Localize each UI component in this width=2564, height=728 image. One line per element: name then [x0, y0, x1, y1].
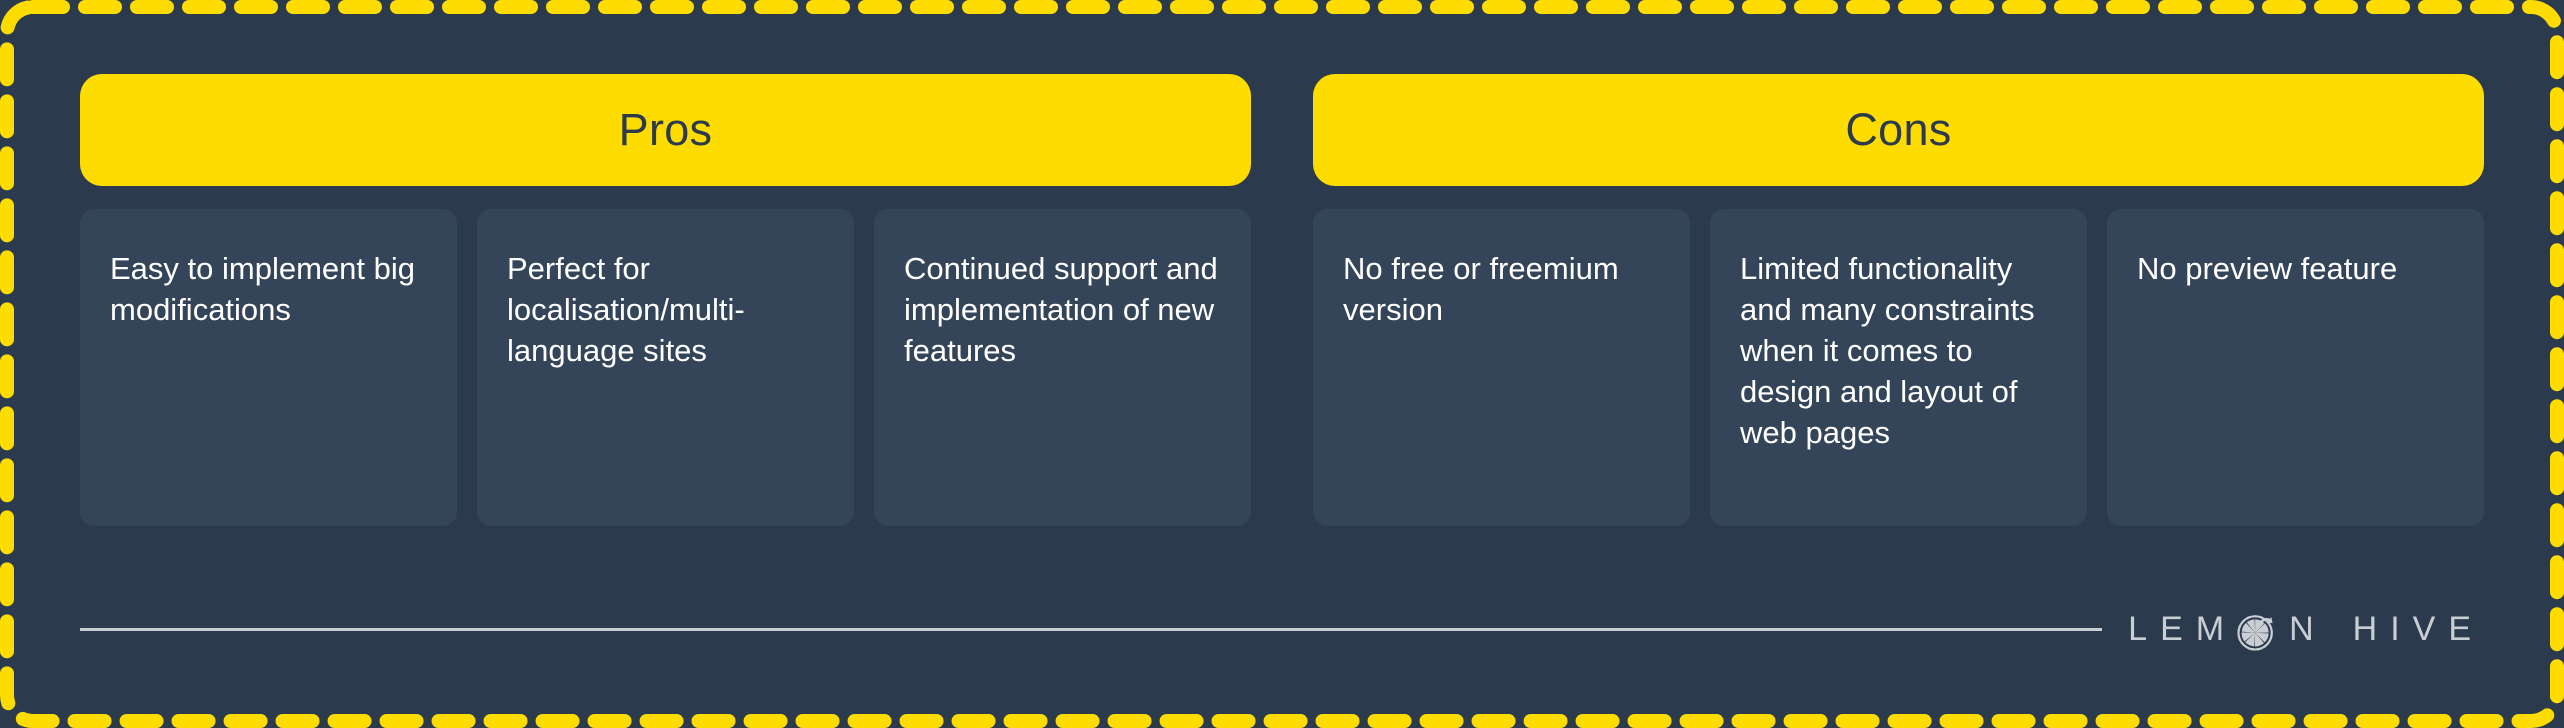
- footer-divider: [80, 628, 2102, 631]
- brand-text-n: N: [2289, 610, 2327, 649]
- brand-text-hive: HIVE: [2353, 610, 2484, 649]
- brand-logo: LEM: [2128, 608, 2484, 650]
- brand-text-lem: LEM: [2128, 610, 2237, 649]
- cons-card-list: No free or freemium version Limited func…: [1313, 209, 2484, 526]
- pros-card-text: Continued support and implementation of …: [904, 249, 1221, 372]
- pros-card-text: Perfect for localisation/multi-language …: [507, 249, 824, 372]
- slide-canvas: Pros Easy to implement big modifications…: [0, 0, 2564, 728]
- cons-card[interactable]: No free or freemium version: [1313, 209, 1690, 526]
- lemon-slice-icon: [2235, 611, 2277, 653]
- column-header-cons-label: Cons: [1845, 104, 1951, 156]
- column-cons: Cons No free or freemium version Limited…: [1313, 74, 2484, 526]
- pros-cons-columns: Pros Easy to implement big modifications…: [80, 74, 2484, 526]
- cons-card-text: No free or freemium version: [1343, 249, 1660, 331]
- cons-card[interactable]: No preview feature: [2107, 209, 2484, 526]
- pros-card[interactable]: Continued support and implementation of …: [874, 209, 1251, 526]
- cons-card[interactable]: Limited functionality and many constrain…: [1710, 209, 2087, 526]
- pros-card[interactable]: Easy to implement big modifications: [80, 209, 457, 526]
- cons-card-text: No preview feature: [2137, 249, 2454, 290]
- pros-card[interactable]: Perfect for localisation/multi-language …: [477, 209, 854, 526]
- slide-footer: LEM: [80, 608, 2484, 650]
- cons-card-text: Limited functionality and many constrain…: [1740, 249, 2057, 454]
- pros-card-list: Easy to implement big modifications Perf…: [80, 209, 1251, 526]
- column-header-cons: Cons: [1313, 74, 2484, 186]
- column-header-pros: Pros: [80, 74, 1251, 186]
- column-pros: Pros Easy to implement big modifications…: [80, 74, 1251, 526]
- column-header-pros-label: Pros: [619, 104, 713, 156]
- pros-card-text: Easy to implement big modifications: [110, 249, 427, 331]
